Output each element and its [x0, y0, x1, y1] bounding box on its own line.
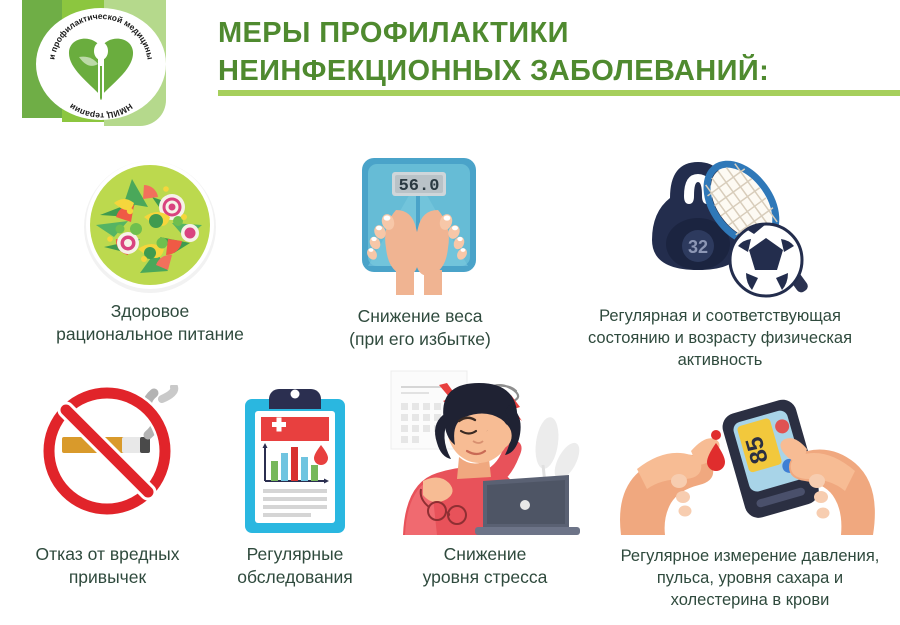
caption-smoking: Отказ от вредных привычек — [0, 543, 220, 589]
item-measure: 85 Регулярное измерение давления, пульса… — [595, 385, 900, 625]
nmic-logo: и профилактической медицины НМИЦ терапии — [36, 8, 166, 120]
item-smoking: Отказ от вредных привычек — [0, 385, 215, 625]
header: и профилактической медицины НМИЦ терапии… — [0, 0, 900, 130]
kettlebell-weight-label: 32 — [688, 237, 708, 257]
item-weight: 56.0 — [300, 150, 540, 365]
title-line-1: МЕРЫ ПРОФИЛАКТИКИ — [218, 14, 878, 52]
salad-bowl-icon — [70, 155, 230, 300]
page-title: МЕРЫ ПРОФИЛАКТИКИ НЕИНФЕКЦИОННЫХ ЗАБОЛЕВ… — [218, 14, 878, 90]
sports-equipment-icon: 32 — [612, 150, 837, 305]
title-line-2: НЕИНФЕКЦИОННЫХ ЗАБОЛЕВАНИЙ: — [218, 52, 878, 90]
bathroom-scale-icon: 56.0 — [334, 150, 504, 300]
caption-weight: Снижение веса (при его избытке) — [300, 305, 540, 351]
stressed-woman-laptop-icon — [375, 365, 590, 540]
item-activity: 32 — [540, 150, 900, 380]
caption-measure: Регулярное измерение давления, пульса, у… — [590, 545, 900, 611]
item-nutrition: Здоровое рациональное питание — [0, 150, 300, 365]
item-stress: Снижение уровня стресса — [375, 365, 595, 625]
caption-nutrition: Здоровое рациональное питание — [0, 300, 300, 346]
item-checkup: Регулярные обследования — [215, 385, 375, 625]
no-smoking-icon — [22, 385, 197, 535]
title-divider — [218, 90, 900, 96]
caption-activity: Регулярная и соответствующая состоянию и… — [540, 305, 900, 371]
scale-display-value: 56.0 — [399, 177, 440, 196]
glucose-meter-hands-icon: 85 — [617, 385, 877, 545]
medical-clipboard-icon — [231, 385, 359, 545]
caption-stress: Снижение уровня стресса — [370, 543, 600, 589]
caption-checkup: Регулярные обследования — [205, 543, 385, 589]
